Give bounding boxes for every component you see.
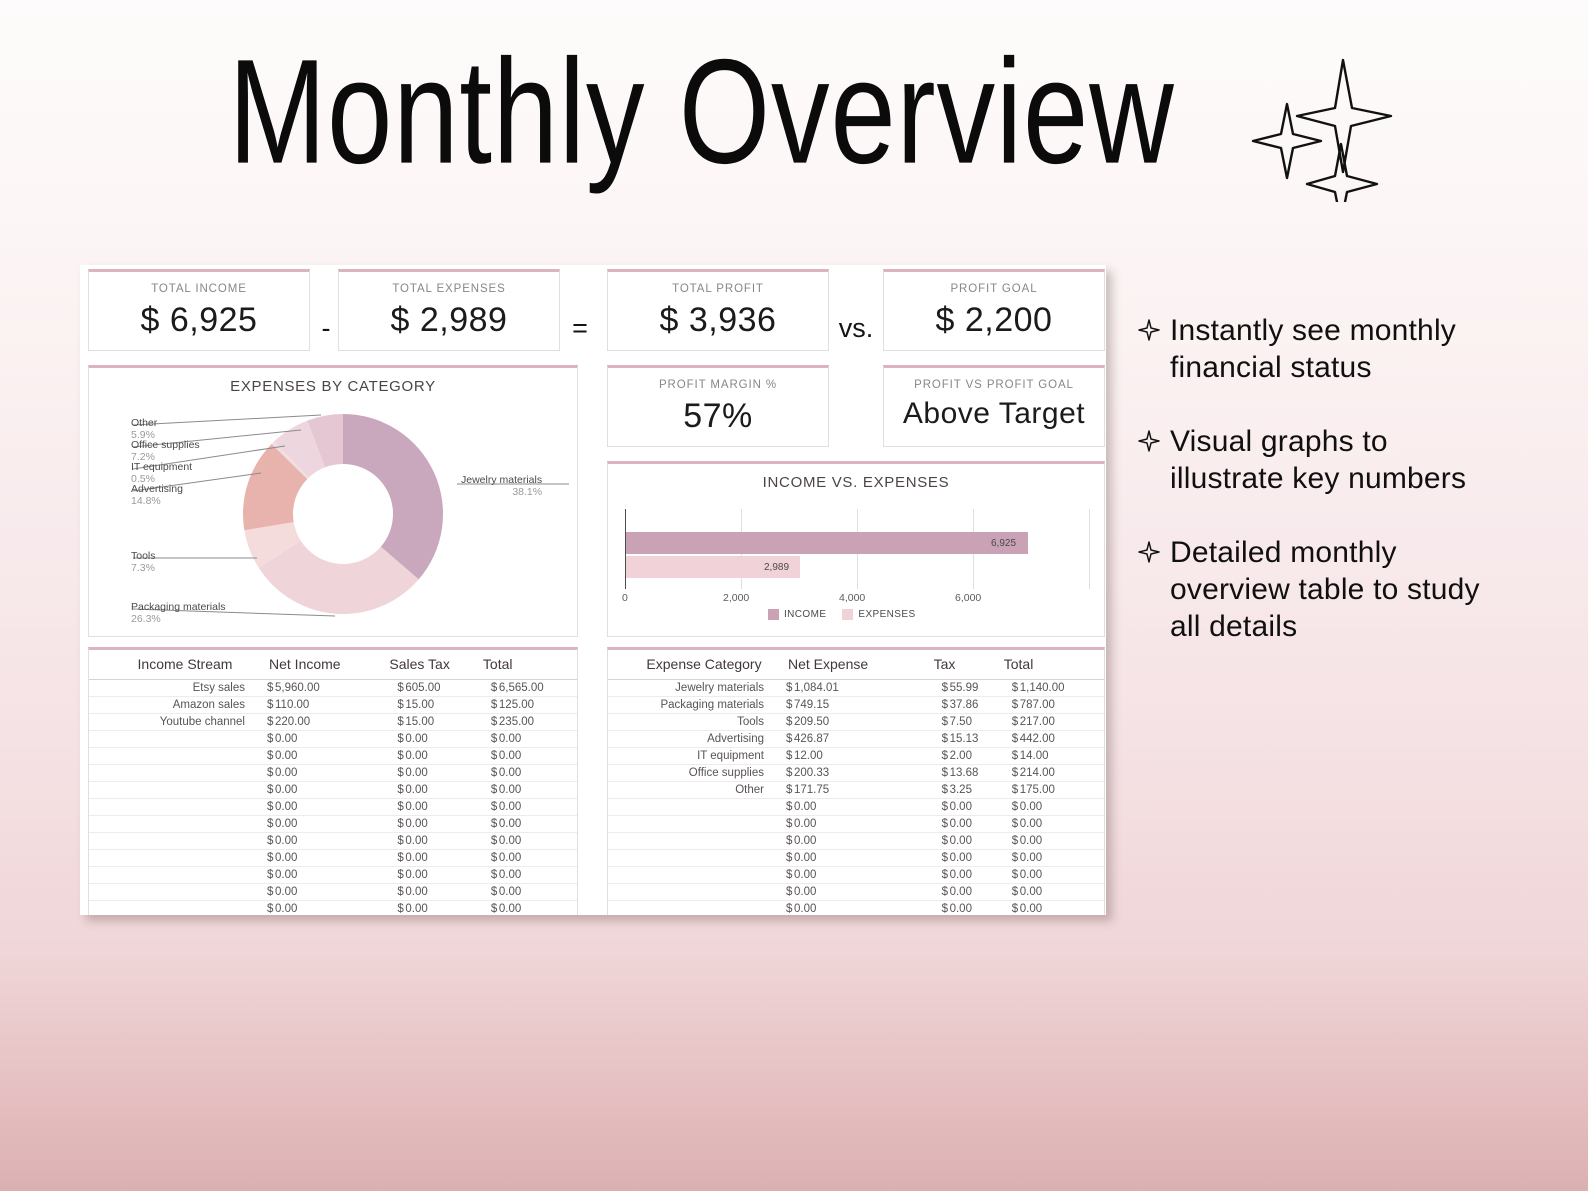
table-row[interactable]: IT equipment$12.00$2.00$14.00: [608, 748, 1104, 765]
currency-symbol: $: [1004, 680, 1020, 697]
cell-total: 442.00: [1020, 731, 1104, 748]
cell-total: 235.00: [499, 714, 577, 731]
cell-net: 0.00: [275, 799, 389, 816]
currency-symbol: $: [1004, 748, 1020, 765]
cell-net: 200.33: [794, 765, 934, 782]
row-label: Advertising: [608, 731, 778, 748]
currency-symbol: $: [389, 833, 405, 850]
bullet-text: Detailed monthly overview table to study…: [1170, 534, 1498, 645]
cell-tax: 3.25: [950, 782, 1004, 799]
cell-tax: 15.00: [405, 697, 483, 714]
currency-symbol: $: [389, 748, 405, 765]
legend-swatch-expenses: [842, 609, 853, 620]
currency-symbol: $: [259, 816, 275, 833]
currency-symbol: $: [483, 765, 499, 782]
currency-symbol: $: [389, 714, 405, 731]
currency-symbol: $: [778, 833, 794, 850]
table-row[interactable]: $0.00$0.00$0.00: [89, 799, 577, 816]
currency-symbol: $: [259, 867, 275, 884]
cell-tax: 0.00: [405, 731, 483, 748]
cell-tax: 0.00: [950, 833, 1004, 850]
row-label: [608, 867, 778, 884]
x-tick-6000: 6,000: [955, 592, 981, 604]
legend-item-income[interactable]: INCOME: [768, 609, 826, 620]
donut-label-name: Jewelry materials: [461, 474, 542, 486]
cell-total: 217.00: [1020, 714, 1104, 731]
income-table[interactable]: Income Stream Net Income Sales Tax Total…: [89, 650, 577, 915]
table-row[interactable]: $0.00$0.00$0.00: [89, 748, 577, 765]
currency-symbol: $: [389, 765, 405, 782]
row-label: [608, 850, 778, 867]
gridline-8000: [1089, 509, 1090, 589]
currency-symbol: $: [483, 782, 499, 799]
currency-symbol: $: [259, 765, 275, 782]
cell-tax: 0.00: [950, 850, 1004, 867]
currency-symbol: $: [483, 731, 499, 748]
cell-net: 426.87: [794, 731, 934, 748]
currency-symbol: $: [1004, 901, 1020, 916]
cell-net: 209.50: [794, 714, 934, 731]
currency-symbol: $: [1004, 782, 1020, 799]
sparkle-stars-icon: [1225, 52, 1395, 207]
currency-symbol: $: [389, 816, 405, 833]
currency-symbol: $: [934, 816, 950, 833]
row-label: [89, 884, 259, 901]
cell-total: 0.00: [499, 731, 577, 748]
table-row[interactable]: Etsy sales$5,960.00$605.00$6,565.00: [89, 680, 577, 697]
row-label: IT equipment: [608, 748, 778, 765]
feature-bullet-list: Instantly see monthly financial status V…: [1138, 312, 1498, 682]
cell-net: 110.00: [275, 697, 389, 714]
cell-net: 0.00: [794, 867, 934, 884]
table-row[interactable]: $0.00$0.00$0.00: [608, 833, 1104, 850]
currency-symbol: $: [934, 901, 950, 916]
table-row[interactable]: $0.00$0.00$0.00: [89, 816, 577, 833]
table-row[interactable]: Amazon sales$110.00$15.00$125.00: [89, 697, 577, 714]
column-header-income-stream: Income Stream: [89, 650, 259, 680]
kpi-value: $ 2,989: [339, 301, 559, 340]
kpi-value: $ 2,200: [884, 301, 1104, 340]
row-label: Packaging materials: [608, 697, 778, 714]
list-item: Instantly see monthly financial status: [1138, 312, 1498, 386]
currency-symbol: $: [1004, 697, 1020, 714]
kpi-value: Above Target: [884, 397, 1104, 431]
cell-net: 220.00: [275, 714, 389, 731]
row-label: Other: [608, 782, 778, 799]
currency-symbol: $: [778, 816, 794, 833]
currency-symbol: $: [259, 714, 275, 731]
cell-total: 0.00: [1020, 833, 1104, 850]
cell-tax: 0.00: [405, 816, 483, 833]
table-header-row: Income Stream Net Income Sales Tax Total: [89, 650, 577, 680]
cell-tax: 2.00: [950, 748, 1004, 765]
currency-symbol: $: [934, 782, 950, 799]
currency-symbol: $: [934, 867, 950, 884]
currency-symbol: $: [389, 731, 405, 748]
income-vs-expenses-panel: INCOME VS. EXPENSES 6,925 2,989 0 2,000 …: [607, 461, 1105, 637]
cell-total: 0.00: [499, 901, 577, 916]
kpi-value: 57%: [608, 397, 828, 436]
currency-symbol: $: [778, 697, 794, 714]
donut-label-value: 26.3%: [131, 613, 226, 625]
table-header-row: Expense Category Net Expense Tax Total: [608, 650, 1104, 680]
cell-total: 0.00: [499, 782, 577, 799]
cell-tax: 0.00: [405, 867, 483, 884]
table-row[interactable]: $0.00$0.00$0.00: [89, 884, 577, 901]
currency-symbol: $: [389, 697, 405, 714]
row-label: [89, 867, 259, 884]
row-label: [608, 816, 778, 833]
cell-tax: 0.00: [405, 833, 483, 850]
cell-total: 0.00: [1020, 867, 1104, 884]
table-row[interactable]: Jewelry materials$1,084.01$55.99$1,140.0…: [608, 680, 1104, 697]
expense-table-panel: Expense Category Net Expense Tax Total J…: [607, 647, 1105, 915]
currency-symbol: $: [1004, 731, 1020, 748]
currency-symbol: $: [389, 680, 405, 697]
table-row[interactable]: $0.00$0.00$0.00: [89, 850, 577, 867]
kpi-label: PROFIT MARGIN %: [608, 368, 828, 391]
legend-swatch-income: [768, 609, 779, 620]
row-label: Tools: [608, 714, 778, 731]
cell-total: 0.00: [499, 867, 577, 884]
row-label: [89, 782, 259, 799]
donut-label-name: Tools: [131, 550, 156, 562]
kpi-card-total-expenses[interactable]: TOTAL EXPENSES $ 2,989: [338, 269, 560, 351]
table-row[interactable]: $0.00$0.00$0.00: [89, 867, 577, 884]
cell-total: 0.00: [499, 748, 577, 765]
cell-total: 0.00: [499, 850, 577, 867]
currency-symbol: $: [934, 731, 950, 748]
column-header-net-expense: Net Expense: [778, 650, 934, 680]
sparkle-bullet-icon: [1138, 430, 1160, 457]
cell-net: 0.00: [275, 816, 389, 833]
cell-net: 171.75: [794, 782, 934, 799]
table-row[interactable]: Youtube channel$220.00$15.00$235.00: [89, 714, 577, 731]
cell-net: 0.00: [794, 816, 934, 833]
cell-net: 0.00: [275, 765, 389, 782]
dashboard-panel: TOTAL INCOME $ 6,925 - TOTAL EXPENSES $ …: [80, 265, 1106, 915]
row-label: [89, 901, 259, 916]
currency-symbol: $: [934, 833, 950, 850]
currency-symbol: $: [1004, 884, 1020, 901]
column-header-expense-category: Expense Category: [608, 650, 778, 680]
table-row[interactable]: $0.00$0.00$0.00: [608, 799, 1104, 816]
currency-symbol: $: [259, 799, 275, 816]
income-table-panel: Income Stream Net Income Sales Tax Total…: [88, 647, 578, 915]
donut-label-name: Office supplies: [131, 439, 200, 451]
bar-value-expenses: 2,989: [764, 562, 789, 573]
currency-symbol: $: [778, 867, 794, 884]
table-row[interactable]: $0.00$0.00$0.00: [89, 833, 577, 850]
donut-label-value: 7.3%: [131, 562, 156, 574]
currency-symbol: $: [778, 748, 794, 765]
currency-symbol: $: [934, 680, 950, 697]
currency-symbol: $: [778, 799, 794, 816]
donut-label-name: Other: [131, 417, 157, 429]
donut-label-advertising: Advertising 14.8%: [131, 483, 183, 507]
currency-symbol: $: [259, 782, 275, 799]
row-label: [89, 799, 259, 816]
donut-label-value: 14.8%: [131, 495, 183, 507]
currency-symbol: $: [778, 850, 794, 867]
kpi-card-profit-vs-goal[interactable]: PROFIT VS PROFIT GOAL Above Target: [883, 365, 1105, 447]
currency-symbol: $: [483, 867, 499, 884]
cell-net: 0.00: [794, 901, 934, 916]
table-row[interactable]: Other$171.75$3.25$175.00: [608, 782, 1104, 799]
row-label: [89, 833, 259, 850]
currency-symbol: $: [483, 884, 499, 901]
legend-label: INCOME: [784, 609, 826, 620]
kpi-card-profit-goal[interactable]: PROFIT GOAL $ 2,200: [883, 269, 1105, 351]
row-label: [89, 850, 259, 867]
table-row[interactable]: Tools$209.50$7.50$217.00: [608, 714, 1104, 731]
cell-total: 14.00: [1020, 748, 1104, 765]
kpi-card-profit-margin[interactable]: PROFIT MARGIN % 57%: [607, 365, 829, 447]
currency-symbol: $: [483, 714, 499, 731]
cell-tax: 15.00: [405, 714, 483, 731]
kpi-label: TOTAL EXPENSES: [339, 272, 559, 295]
donut-label-other: Other 5.9%: [131, 417, 157, 441]
cell-tax: 0.00: [950, 799, 1004, 816]
currency-symbol: $: [389, 901, 405, 916]
operator-versus: vs.: [833, 313, 879, 344]
currency-symbol: $: [259, 680, 275, 697]
donut-label-office-supplies: Office supplies 7.2%: [131, 439, 200, 463]
cell-tax: 0.00: [405, 748, 483, 765]
currency-symbol: $: [778, 731, 794, 748]
row-label: [89, 765, 259, 782]
cell-net: 0.00: [794, 833, 934, 850]
bar-value-income: 6,925: [991, 538, 1016, 549]
cell-tax: 0.00: [405, 799, 483, 816]
cell-tax: 0.00: [950, 884, 1004, 901]
row-label: Jewelry materials: [608, 680, 778, 697]
row-label: Amazon sales: [89, 697, 259, 714]
kpi-value: $ 3,936: [608, 301, 828, 340]
table-row[interactable]: $0.00$0.00$0.00: [608, 901, 1104, 916]
kpi-label: TOTAL INCOME: [89, 272, 309, 295]
donut-label-name: Advertising: [131, 483, 183, 495]
bar-chart-legend: INCOME EXPENSES: [768, 609, 916, 620]
currency-symbol: $: [778, 901, 794, 916]
cell-total: 0.00: [499, 816, 577, 833]
currency-symbol: $: [778, 765, 794, 782]
cell-tax: 15.13: [950, 731, 1004, 748]
cell-tax: 0.00: [950, 816, 1004, 833]
cell-total: 0.00: [1020, 884, 1104, 901]
column-header-sales-tax: Sales Tax: [389, 650, 483, 680]
cell-net: 0.00: [275, 850, 389, 867]
column-header-net-income: Net Income: [259, 650, 389, 680]
cell-net: 0.00: [794, 850, 934, 867]
donut-label-name: IT equipment: [131, 461, 192, 473]
currency-symbol: $: [778, 782, 794, 799]
currency-symbol: $: [389, 850, 405, 867]
table-row[interactable]: $0.00$0.00$0.00: [89, 765, 577, 782]
table-row[interactable]: $0.00$0.00$0.00: [89, 901, 577, 916]
cell-total: 787.00: [1020, 697, 1104, 714]
column-header-tax: Tax: [934, 650, 1004, 680]
cell-net: 12.00: [794, 748, 934, 765]
currency-symbol: $: [934, 850, 950, 867]
row-label: [89, 748, 259, 765]
x-tick-4000: 4,000: [839, 592, 865, 604]
table-row[interactable]: $0.00$0.00$0.00: [89, 782, 577, 799]
page-title: Monthly Overview: [229, 34, 1175, 190]
cell-total: 214.00: [1020, 765, 1104, 782]
x-tick-0: 0: [622, 592, 628, 604]
currency-symbol: $: [259, 697, 275, 714]
cell-net: 749.15: [794, 697, 934, 714]
table-row[interactable]: $0.00$0.00$0.00: [608, 816, 1104, 833]
currency-symbol: $: [1004, 799, 1020, 816]
cell-total: 0.00: [1020, 799, 1104, 816]
currency-symbol: $: [483, 748, 499, 765]
cell-net: 0.00: [275, 884, 389, 901]
table-row[interactable]: $0.00$0.00$0.00: [608, 884, 1104, 901]
currency-symbol: $: [1004, 816, 1020, 833]
currency-symbol: $: [934, 799, 950, 816]
table-row[interactable]: $0.00$0.00$0.00: [89, 731, 577, 748]
table-row[interactable]: Packaging materials$749.15$37.86$787.00: [608, 697, 1104, 714]
sparkle-bullet-icon: [1138, 541, 1160, 568]
row-label: [608, 799, 778, 816]
currency-symbol: $: [1004, 867, 1020, 884]
cell-tax: 0.00: [405, 850, 483, 867]
bar-income[interactable]: [626, 532, 1028, 554]
cell-tax: 0.00: [405, 901, 483, 916]
cell-net: 0.00: [275, 748, 389, 765]
cell-tax: 7.50: [950, 714, 1004, 731]
currency-symbol: $: [934, 884, 950, 901]
cell-net: 5,960.00: [275, 680, 389, 697]
currency-symbol: $: [483, 850, 499, 867]
cell-total: 1,140.00: [1020, 680, 1104, 697]
expense-table[interactable]: Expense Category Net Expense Tax Total J…: [608, 650, 1104, 915]
legend-label: EXPENSES: [858, 609, 915, 620]
kpi-label: PROFIT VS PROFIT GOAL: [884, 368, 1104, 391]
currency-symbol: $: [259, 731, 275, 748]
cell-total: 125.00: [499, 697, 577, 714]
currency-symbol: $: [934, 714, 950, 731]
cell-tax: 0.00: [405, 765, 483, 782]
cell-tax: 0.00: [405, 884, 483, 901]
currency-symbol: $: [259, 748, 275, 765]
currency-symbol: $: [483, 833, 499, 850]
cell-total: 0.00: [1020, 901, 1104, 916]
row-label: [608, 884, 778, 901]
cell-total: 0.00: [499, 884, 577, 901]
currency-symbol: $: [934, 765, 950, 782]
cell-net: 1,084.01: [794, 680, 934, 697]
table-row[interactable]: Office supplies$200.33$13.68$214.00: [608, 765, 1104, 782]
cell-tax: 0.00: [950, 867, 1004, 884]
cell-total: 0.00: [1020, 850, 1104, 867]
currency-symbol: $: [778, 714, 794, 731]
currency-symbol: $: [483, 697, 499, 714]
cell-tax: 55.99: [950, 680, 1004, 697]
currency-symbol: $: [259, 884, 275, 901]
currency-symbol: $: [483, 680, 499, 697]
kpi-card-total-profit[interactable]: TOTAL PROFIT $ 3,936: [607, 269, 829, 351]
currency-symbol: $: [934, 748, 950, 765]
cell-tax: 0.00: [950, 901, 1004, 916]
currency-symbol: $: [259, 850, 275, 867]
donut-label-packaging-materials: Packaging materials 26.3%: [131, 601, 226, 625]
currency-symbol: $: [1004, 765, 1020, 782]
row-label: [89, 816, 259, 833]
row-label: Youtube channel: [89, 714, 259, 731]
currency-symbol: $: [389, 782, 405, 799]
cell-total: 0.00: [499, 833, 577, 850]
currency-symbol: $: [778, 884, 794, 901]
cell-tax: 0.00: [405, 782, 483, 799]
cell-tax: 605.00: [405, 680, 483, 697]
donut-label-value: 38.1%: [461, 486, 542, 498]
cell-tax: 37.86: [950, 697, 1004, 714]
currency-symbol: $: [1004, 833, 1020, 850]
expenses-by-category-panel: EXPENSES BY CATEGORY: [88, 365, 578, 637]
currency-symbol: $: [1004, 850, 1020, 867]
donut-label-tools: Tools 7.3%: [131, 550, 156, 574]
page-header: Monthly Overview: [0, 34, 1588, 207]
x-tick-2000: 2,000: [723, 592, 749, 604]
currency-symbol: $: [259, 833, 275, 850]
currency-symbol: $: [483, 816, 499, 833]
row-label: [89, 731, 259, 748]
currency-symbol: $: [934, 697, 950, 714]
bullet-text: Visual graphs to illustrate key numbers: [1170, 423, 1498, 497]
cell-total: 0.00: [499, 799, 577, 816]
table-row[interactable]: $0.00$0.00$0.00: [608, 850, 1104, 867]
list-item: Visual graphs to illustrate key numbers: [1138, 423, 1498, 497]
chart-title: INCOME VS. EXPENSES: [608, 464, 1104, 491]
cell-tax: 13.68: [950, 765, 1004, 782]
currency-symbol: $: [483, 799, 499, 816]
bullet-text: Instantly see monthly financial status: [1170, 312, 1498, 386]
row-label: [608, 901, 778, 916]
cell-net: 0.00: [275, 731, 389, 748]
currency-symbol: $: [778, 680, 794, 697]
donut-label-jewelry-materials: Jewelry materials 38.1%: [461, 474, 542, 498]
cell-net: 0.00: [275, 833, 389, 850]
kpi-card-total-income[interactable]: TOTAL INCOME $ 6,925: [88, 269, 310, 351]
row-label: Office supplies: [608, 765, 778, 782]
legend-item-expenses[interactable]: EXPENSES: [842, 609, 915, 620]
row-label: [608, 833, 778, 850]
operator-minus: -: [314, 313, 338, 344]
table-row[interactable]: $0.00$0.00$0.00: [608, 867, 1104, 884]
cell-net: 0.00: [275, 867, 389, 884]
currency-symbol: $: [259, 901, 275, 916]
cell-net: 0.00: [275, 901, 389, 916]
cell-net: 0.00: [794, 799, 934, 816]
table-row[interactable]: Advertising$426.87$15.13$442.00: [608, 731, 1104, 748]
row-label: Etsy sales: [89, 680, 259, 697]
column-header-total: Total: [483, 650, 577, 680]
sparkle-bullet-icon: [1138, 319, 1160, 346]
currency-symbol: $: [389, 867, 405, 884]
income-table-body: Etsy sales$5,960.00$605.00$6,565.00Amazo…: [89, 680, 577, 916]
cell-total: 175.00: [1020, 782, 1104, 799]
operator-equals: =: [566, 313, 594, 344]
column-header-total: Total: [1004, 650, 1104, 680]
currency-symbol: $: [483, 901, 499, 916]
kpi-label: TOTAL PROFIT: [608, 272, 828, 295]
donut-label-it-equipment: IT equipment 0.5%: [131, 461, 192, 485]
cell-total: 0.00: [499, 765, 577, 782]
kpi-label: PROFIT GOAL: [884, 272, 1104, 295]
